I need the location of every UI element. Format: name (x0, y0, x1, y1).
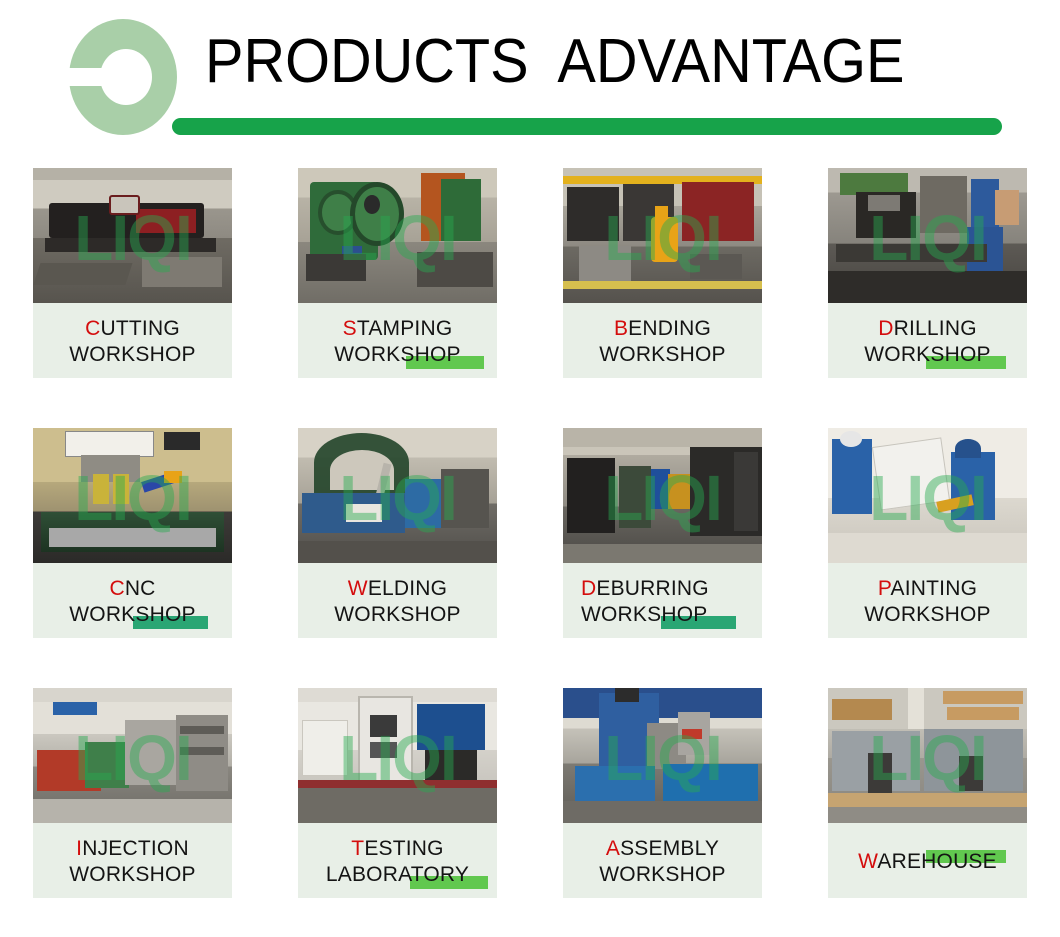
card-caption: CUTTINGWORKSHOP (33, 303, 232, 378)
page-header: PRODUCTS ADVANTAGE (0, 0, 1060, 150)
caption-line-1: WAREHOUSE (858, 849, 997, 875)
warehouse-photo: LIQI (828, 688, 1027, 823)
advantage-card[interactable]: LIQICUTTINGWORKSHOP (0, 150, 265, 410)
card-caption: DEBURRINGWORKSHOP (563, 563, 762, 638)
testing-laboratory-photo: LIQI (298, 688, 497, 823)
caption-line-1: INJECTION (76, 836, 189, 862)
card-caption: DRILLINGWORKSHOP (828, 303, 1027, 378)
caption-line-2: WORKSHOP (334, 342, 460, 368)
caption-initial-letter: D (878, 317, 893, 340)
caption-initial-letter: A (606, 837, 620, 860)
advantage-card[interactable]: LIQIPAINTINGWORKSHOP (795, 410, 1060, 670)
card-inner: LIQIBENDINGWORKSHOP (563, 168, 762, 378)
advantage-card[interactable]: LIQITESTINGLABORATORY (265, 670, 530, 930)
caption-line-1-rest: AINTING (891, 577, 978, 600)
caption-line-2: WORKSHOP (581, 602, 707, 628)
caption-initial-letter: W (858, 850, 877, 873)
card-caption: ASSEMBLYWORKSHOP (563, 823, 762, 898)
card-inner: LIQICNCWORKSHOP (33, 428, 232, 638)
card-inner: LIQIASSEMBLYWORKSHOP (563, 688, 762, 898)
caption-line-2: LABORATORY (326, 862, 469, 888)
stamping-workshop-photo: LIQI (298, 168, 497, 303)
caption-line-1-rest: ESTING (364, 837, 443, 860)
advantage-card[interactable]: LIQIBENDINGWORKSHOP (530, 150, 795, 410)
card-caption: BENDINGWORKSHOP (563, 303, 762, 378)
caption-line-1-rest: NC (125, 577, 156, 600)
advantage-card[interactable]: LIQIINJECTIONWORKSHOP (0, 670, 265, 930)
advantage-card[interactable]: LIQIDEBURRINGWORKSHOP (530, 410, 795, 670)
caption-initial-letter: B (614, 317, 628, 340)
caption-initial-letter: T (351, 837, 364, 860)
advantage-card[interactable]: LIQIWAREHOUSE (795, 670, 1060, 930)
caption-line-1: BENDING (614, 316, 711, 342)
caption-line-2: WORKSHOP (864, 342, 990, 368)
caption-line-1: PAINTING (878, 576, 977, 602)
card-caption: CNCWORKSHOP (33, 563, 232, 638)
caption-line-1: DEBURRING (581, 576, 709, 602)
card-inner: LIQICUTTINGWORKSHOP (33, 168, 232, 378)
card-caption: WELDINGWORKSHOP (298, 563, 497, 638)
card-caption: TESTINGLABORATORY (298, 823, 497, 898)
page-title: PRODUCTS ADVANTAGE (205, 24, 905, 100)
advantage-card[interactable]: LIQIASSEMBLYWORKSHOP (530, 670, 795, 930)
caption-line-1: DRILLING (878, 316, 976, 342)
card-inner: LIQISTAMPINGWORKSHOP (298, 168, 497, 378)
assembly-workshop-photo: LIQI (563, 688, 762, 823)
cutting-workshop-photo: LIQI (33, 168, 232, 303)
card-caption: STAMPINGWORKSHOP (298, 303, 497, 378)
deburring-workshop-photo: LIQI (563, 428, 762, 563)
caption-line-1: WELDING (348, 576, 447, 602)
caption-initial-letter: P (878, 577, 891, 600)
card-inner: LIQIWAREHOUSE (828, 688, 1027, 898)
caption-line-1-rest: ELDING (368, 577, 447, 600)
drilling-workshop-photo: LIQI (828, 168, 1027, 303)
caption-line-2: WORKSHOP (69, 342, 195, 368)
caption-line-1: TESTING (351, 836, 443, 862)
c-letter-logo (68, 18, 178, 136)
caption-line-1-rest: NJECTION (82, 837, 189, 860)
caption-line-2: WORKSHOP (69, 602, 195, 628)
card-caption: WAREHOUSE (828, 823, 1027, 898)
caption-line-1: CUTTING (85, 316, 180, 342)
injection-workshop-photo: LIQI (33, 688, 232, 823)
caption-line-1: STAMPING (343, 316, 453, 342)
card-inner: LIQIPAINTINGWORKSHOP (828, 428, 1027, 638)
card-inner: LIQIWELDINGWORKSHOP (298, 428, 497, 638)
caption-line-1-rest: AREHOUSE (877, 850, 996, 873)
advantage-card[interactable]: LIQIWELDINGWORKSHOP (265, 410, 530, 670)
welding-workshop-photo: LIQI (298, 428, 497, 563)
painting-workshop-photo: LIQI (828, 428, 1027, 563)
caption-initial-letter: D (581, 577, 596, 600)
caption-line-2: WORKSHOP (599, 862, 725, 888)
caption-line-1: CNC (109, 576, 155, 602)
caption-line-1-rest: TAMPING (357, 317, 453, 340)
caption-line-1-rest: SSEMBLY (620, 837, 719, 860)
advantage-card[interactable]: LIQIDRILLINGWORKSHOP (795, 150, 1060, 410)
bending-workshop-photo: LIQI (563, 168, 762, 303)
card-inner: LIQIDEBURRINGWORKSHOP (563, 428, 762, 638)
caption-line-1-rest: ENDING (628, 317, 711, 340)
caption-line-2: WORKSHOP (864, 602, 990, 628)
caption-line-2: WORKSHOP (599, 342, 725, 368)
caption-line-1: ASSEMBLY (606, 836, 719, 862)
caption-initial-letter: C (109, 577, 124, 600)
advantage-card[interactable]: LIQISTAMPINGWORKSHOP (265, 150, 530, 410)
advantage-card-grid: LIQICUTTINGWORKSHOP LIQISTAMPINGWORKSHOP… (0, 150, 1060, 930)
caption-line-1-rest: RILLING (894, 317, 977, 340)
caption-line-1-rest: EBURRING (596, 577, 708, 600)
card-inner: LIQITESTINGLABORATORY (298, 688, 497, 898)
card-inner: LIQIDRILLINGWORKSHOP (828, 168, 1027, 378)
caption-initial-letter: S (343, 317, 357, 340)
caption-line-1-rest: UTTING (101, 317, 180, 340)
card-caption: INJECTIONWORKSHOP (33, 823, 232, 898)
advantage-card[interactable]: LIQICNCWORKSHOP (0, 410, 265, 670)
caption-line-2: WORKSHOP (334, 602, 460, 628)
caption-initial-letter: C (85, 317, 100, 340)
cnc-workshop-photo: LIQI (33, 428, 232, 563)
title-underline-bar (172, 118, 1002, 135)
caption-line-2: WORKSHOP (69, 862, 195, 888)
card-caption: PAINTINGWORKSHOP (828, 563, 1027, 638)
caption-initial-letter: W (348, 577, 368, 600)
card-inner: LIQIINJECTIONWORKSHOP (33, 688, 232, 898)
